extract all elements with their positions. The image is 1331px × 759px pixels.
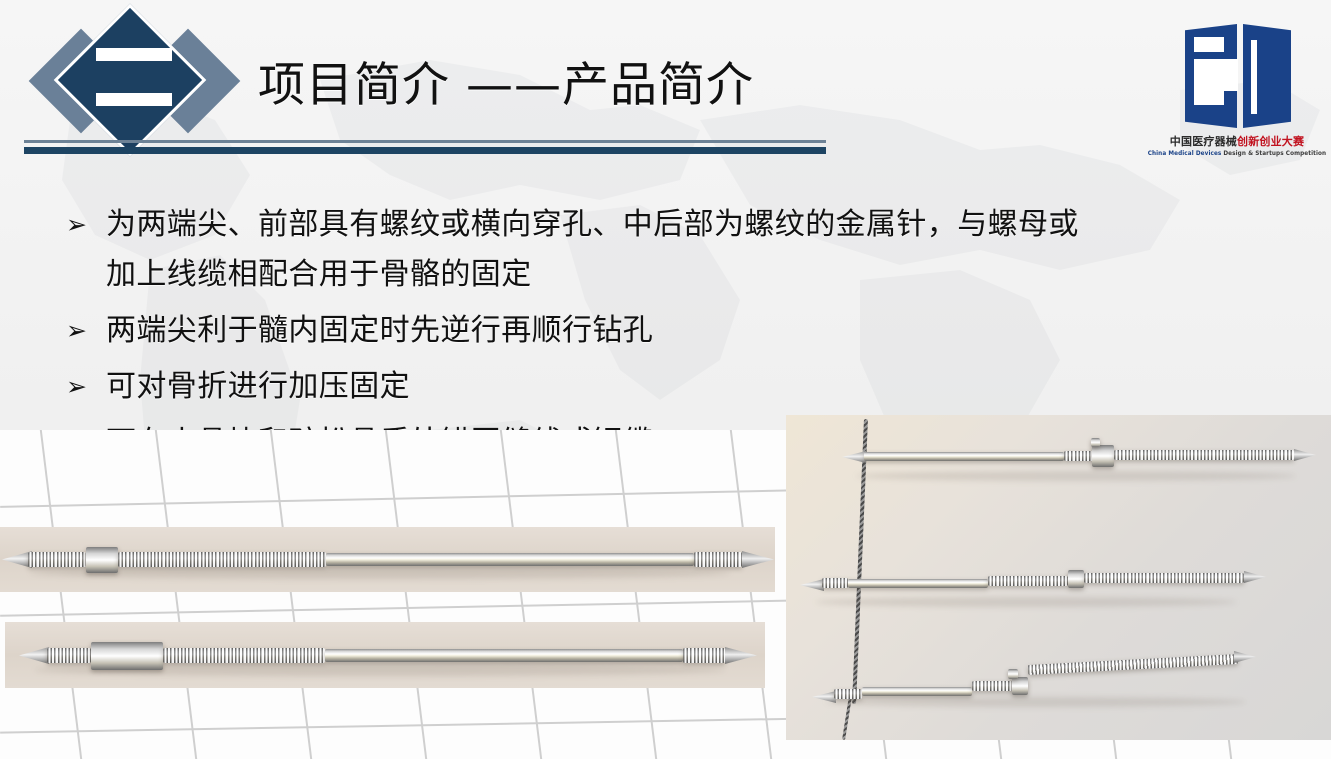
pin-thread-rear: [683, 648, 725, 663]
pin-tip-right: [1294, 449, 1316, 461]
pin-shaft: [862, 687, 972, 696]
bullet-text-1-line-2: 加上线缆相配合用于骨骼的固定: [106, 250, 1079, 300]
header-rule-thick: [24, 147, 826, 154]
bullet-arrow-icon: ➢: [60, 306, 106, 356]
pin-thread-mid: [1064, 451, 1094, 461]
pin-tip-left: [19, 647, 49, 664]
competition-name-en: China Medical Devices Design & Startups …: [1148, 150, 1326, 157]
mark-cut-four: [1251, 40, 1257, 114]
pin-photo-top-left: [0, 527, 775, 592]
competition-name-cn-accent: 创新创业大赛: [1237, 135, 1304, 148]
bullet-item-3: ➢ 可对骨折进行加压固定: [60, 362, 1240, 412]
mark-cut-two: [1194, 59, 1224, 105]
pin-tip-right: [1244, 571, 1266, 583]
diamond-emblem-icon: [36, 4, 236, 159]
competition-name-en-blue: China Medical Devices: [1148, 150, 1222, 157]
pin-thread-rear: [694, 552, 742, 567]
pin-shaft: [326, 553, 694, 566]
competition-name-cn-prefix: 中国医疗器械: [1170, 135, 1237, 148]
pin-photo-bottom-left: [5, 622, 765, 688]
pin-nut: [1012, 677, 1028, 695]
pin-tip-right: [742, 551, 774, 568]
pin-thread-front: [822, 578, 848, 588]
bullet-item-1: ➢ 为两端尖、前部具有螺纹或横向穿孔、中后部为螺纹的金属针，与螺母或 加上线缆相…: [60, 200, 1240, 300]
mark-cut-three: [1224, 59, 1238, 91]
pin-tip-left: [842, 451, 866, 463]
pin-shaft: [864, 452, 1064, 461]
bullet-item-2: ➢ 两端尖利于髓内固定时先逆行再顺行钻孔: [60, 306, 1240, 356]
bullet-text-1-line-1: 为两端尖、前部具有螺纹或横向穿孔、中后部为螺纹的金属针，与螺母或: [106, 200, 1079, 250]
pin-thread-front: [834, 689, 862, 699]
pin-thread-rear: [1114, 450, 1294, 460]
pin-nut-cap: [1008, 669, 1018, 679]
slide-header: 项目简介 ——产品简介 中国医疗器械创新创业大赛 China Medical D…: [0, 0, 1331, 170]
competition-name-en-grey: Design & Startups Competition: [1223, 150, 1326, 157]
page-title: 项目简介 ——产品简介: [258, 62, 754, 109]
bullet-text-1: 为两端尖、前部具有螺纹或横向穿孔、中后部为螺纹的金属针，与螺母或 加上线缆相配合…: [106, 200, 1079, 300]
pin-thread-mid: [118, 552, 326, 567]
pin-nut: [86, 547, 118, 573]
bullet-arrow-icon: ➢: [60, 362, 106, 412]
pin-thread-front: [47, 648, 91, 663]
pin-tip-right: [725, 647, 757, 664]
diamond-core: [54, 4, 207, 157]
pin-thread-rear: [1084, 573, 1244, 583]
pin-thread-front: [28, 552, 86, 567]
bullet-text-3: 可对骨折进行加压固定: [106, 362, 410, 412]
pin-collar: [91, 642, 163, 670]
open-book-door-mark-icon: [1181, 24, 1293, 128]
slide-canvas: 项目简介 ——产品简介 中国医疗器械创新创业大赛 China Medical D…: [0, 0, 1331, 759]
pin-tip-left: [800, 579, 824, 591]
pin-tip-left: [812, 691, 836, 703]
pin-tip-right: [1234, 651, 1256, 663]
pin-nut: [1068, 570, 1084, 588]
mark-cut-one: [1194, 37, 1224, 52]
bullet-arrow-icon: ➢: [60, 200, 106, 250]
pin-thread-rear: [1028, 654, 1238, 675]
pin-shaft: [325, 649, 683, 662]
diamond-bar-bottom: [96, 93, 172, 106]
header-rule-thin: [24, 140, 826, 143]
competition-name-cn: 中国医疗器械创新创业大赛: [1170, 133, 1304, 149]
pin-shaft: [848, 579, 988, 588]
diamond-bar-top: [96, 48, 172, 61]
pins-with-cable-photo-right: [786, 415, 1331, 740]
bullet-text-2: 两端尖利于髓内固定时先逆行再顺行钻孔: [106, 306, 653, 356]
competition-logo: 中国医疗器械创新创业大赛 China Medical Devices Desig…: [1157, 10, 1317, 168]
pin-nut: [1092, 445, 1114, 467]
pin-thread-mid: [988, 576, 1068, 586]
pin-thread-mid: [163, 648, 325, 663]
pin-nut-cap: [1091, 438, 1100, 447]
pin-thread-mid: [972, 681, 1016, 691]
